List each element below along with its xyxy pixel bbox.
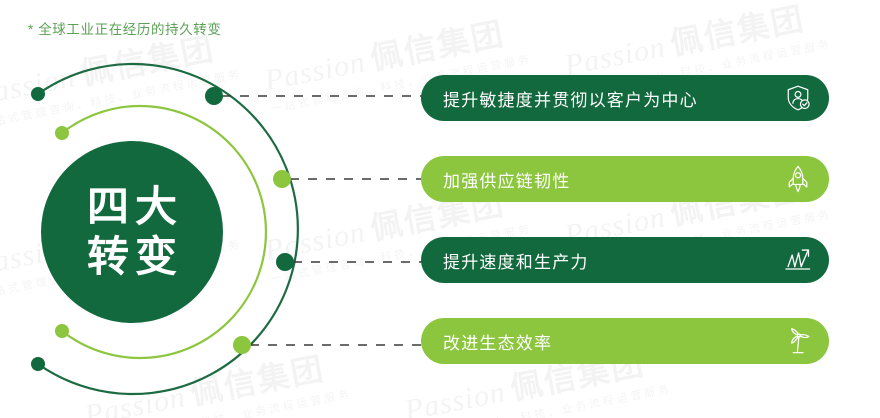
rocket-icon xyxy=(783,164,813,194)
pill-label-3: 提升速度和生产力 xyxy=(443,248,589,273)
pill-item-1[interactable]: 提升敏捷度并贯彻以客户为中心 xyxy=(421,75,829,121)
page-title: * 全球工业正在经历的持久转变 xyxy=(28,18,222,38)
pill-label-1: 提升敏捷度并贯彻以客户为中心 xyxy=(443,86,698,111)
connector-dot-2 xyxy=(273,170,291,188)
center-badge: 四大 转变 xyxy=(41,141,223,323)
pill-label-2: 加强供应链韧性 xyxy=(443,167,570,192)
center-badge-line2: 转变 xyxy=(81,232,183,282)
pill-item-3[interactable]: 提升速度和生产力 xyxy=(421,237,829,283)
connector-dot-3 xyxy=(276,253,294,271)
connector-dot-4 xyxy=(233,336,251,354)
growth-arrow-chart-icon xyxy=(783,245,813,275)
arc-endpoint-dot-bottom-dark xyxy=(31,357,45,371)
shield-person-check-icon xyxy=(783,83,813,113)
pill-item-2[interactable]: 加强供应链韧性 xyxy=(421,156,829,202)
pill-label-4: 改进生态效率 xyxy=(443,329,552,354)
center-badge-line1: 四大 xyxy=(81,182,183,232)
arc-endpoint-dot-bottom-light xyxy=(55,324,69,338)
arc-endpoint-dot-top-light xyxy=(55,126,69,140)
slide-canvas: Passion佩信集团 一站式管理咨询、科技、业务流程运营服务 Passion佩… xyxy=(0,0,880,418)
wind-turbine-icon xyxy=(783,326,813,356)
arc-endpoint-dot-top-dark xyxy=(31,87,45,101)
pill-item-4[interactable]: 改进生态效率 xyxy=(421,318,829,364)
connector-dot-1 xyxy=(205,87,223,105)
